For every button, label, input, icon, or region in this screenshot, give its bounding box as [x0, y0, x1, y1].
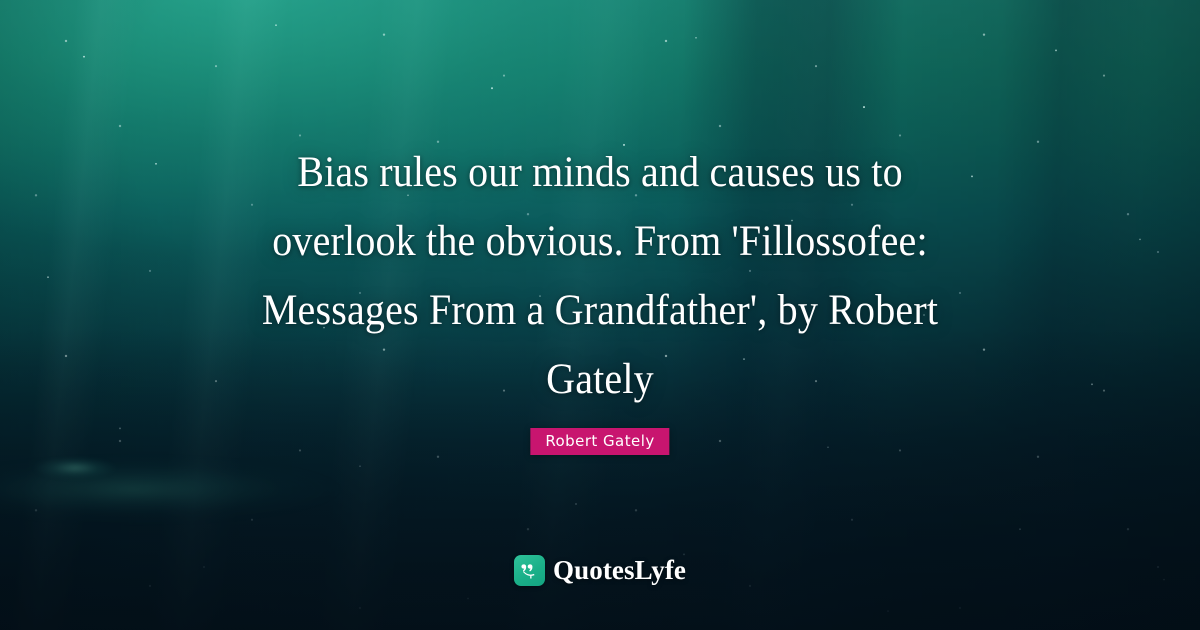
quotation-mark-icon — [514, 555, 545, 586]
quote-line-2: overlook the obvious. From 'Fillossofee: — [191, 207, 1009, 276]
author-name: Robert Gately — [545, 432, 654, 450]
quote-line-1: Bias rules our minds and causes us to — [191, 138, 1009, 207]
author-badge[interactable]: Robert Gately — [530, 428, 669, 455]
brand-name: QuotesLyfe — [553, 555, 686, 586]
brand-logo[interactable]: QuotesLyfe — [514, 555, 686, 586]
quote-line-4: Gately — [191, 345, 1009, 414]
quote-card: Bias rules our minds and causes us to ov… — [0, 0, 1200, 630]
quote-block: Bias rules our minds and causes us to ov… — [160, 138, 1040, 414]
card-content: Bias rules our minds and causes us to ov… — [0, 0, 1200, 630]
quote-line-3: Messages From a Grandfather', by Robert — [191, 276, 1009, 345]
